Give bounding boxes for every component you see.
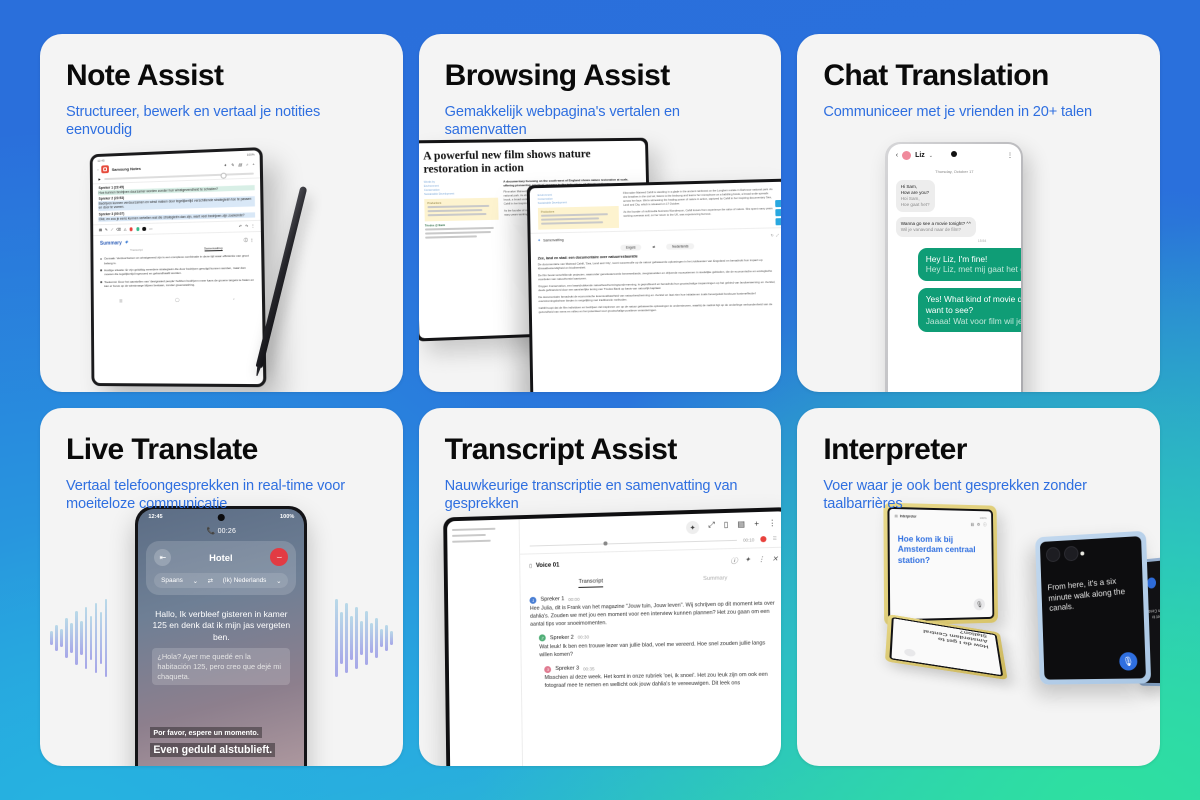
speaker-header: 3 Spreker 3 00:35 [544, 662, 780, 673]
ai-sparkle-icon: ✦ [537, 238, 540, 243]
email-icon[interactable] [775, 218, 781, 225]
file-icon: ▯ [529, 563, 532, 569]
call-duration-value: 00:26 [218, 528, 237, 535]
speaker-name: Spreker 1 [540, 596, 564, 602]
caller-name: Hotel [171, 552, 270, 563]
message-translation: Hallo, Ik verbleef gisteren in kamer 125… [152, 609, 290, 643]
card-header: Live Translate Vertaal telefoongesprekke… [40, 408, 403, 513]
audio-waveform-left [50, 590, 107, 686]
more-icon[interactable]: ⋮ [251, 224, 255, 228]
ai-sparkle-icon[interactable]: ✦ [686, 521, 699, 534]
message-translation: Wil je vanavond naar de film? [901, 227, 971, 233]
message-timestamp: 15:54 [888, 239, 1021, 243]
undo-icon[interactable]: ↶ [239, 225, 242, 229]
flip-cover-screen: From here, it's a six minute walk along … [1035, 531, 1151, 685]
incoming-message-bubble: Hi Sam, How are you? Hoi Sam, Hoe gaat h… [896, 180, 935, 212]
language-selector[interactable]: Spaans ⌄ ⇄ (Ik) Nederlands ⌄ [154, 573, 288, 588]
settings-icon[interactable]: ⚙ [977, 522, 980, 528]
status-battery: 100% [980, 516, 987, 520]
page-title: Interpreter [823, 434, 1134, 466]
note-icon: ▤ [895, 514, 898, 518]
main-panel: ✦ ⤢ ▯ ▤ + ⋮ 00:10 ☰ [519, 511, 781, 766]
call-screen: 12:45 100% 📞 00:26 ⇤ Hotel ⌣ [138, 509, 304, 766]
speaker-avatar: 3 [544, 666, 551, 673]
speaker-text: Hee Julia, dit is Frank van het magazine… [529, 601, 778, 630]
reply-message: Por favor, espere un momento. Even gedul… [150, 722, 292, 758]
file-header: ▯ Voice 01 ⓘ ✦ ⋮ ✕ [529, 555, 778, 571]
card-transcript-assist[interactable]: Transcript Assist Nauwkeurige transcript… [419, 408, 782, 766]
speaker-avatar: 1 [529, 596, 536, 603]
summary-bullet: Oorzaak: Verduurzamen en winstgevend zij… [100, 254, 254, 266]
redo-icon[interactable]: ↷ [245, 224, 248, 228]
more-icon[interactable]: ⋮ [250, 237, 254, 242]
call-controls-row: ⇤ Hotel ⌣ [154, 548, 288, 566]
translated-message: Hallo, Ik verbleef gisteren in kamer 125… [152, 609, 290, 685]
app-name: Interpreter [900, 514, 917, 518]
tablet-summary-device: Environment Conservation Sustainable Dev… [526, 179, 781, 392]
back-icon[interactable]: ‹ [97, 168, 98, 172]
info-icon[interactable]: ⓘ [244, 237, 248, 243]
summary-label: Samenvatting [543, 238, 563, 242]
info-icon[interactable]: ⓘ [730, 556, 737, 566]
page-title: Note Assist [66, 60, 377, 92]
smartphone-device: ‹ Liz ⌄ ⋮ Thursday, October 17 Hi Sam, H… [885, 142, 1023, 392]
card-subtitle: Vertaal telefoongesprekken in real-time … [66, 477, 377, 514]
back-icon[interactable]: ‹ [896, 152, 898, 159]
speaker-time: 00:30 [577, 635, 588, 640]
phone-icon: 📞 [207, 528, 216, 535]
speaker-text: Wat leuk! Ik ben een trouwe lezer van ju… [539, 640, 780, 660]
expand-icon[interactable]: ⤢ [776, 233, 779, 237]
chevron-down-icon[interactable]: ⌄ [276, 577, 281, 585]
speaker-avatar: 2 [539, 635, 546, 642]
note-icon[interactable]: ▤ [971, 522, 975, 528]
card-header: Interpreter Voer waar je ook bent gespre… [797, 408, 1160, 513]
date-divider: Thursday, October 17 [888, 169, 1021, 174]
home-icon[interactable]: ◯ [175, 297, 179, 302]
bullet-dot-icon [100, 258, 102, 260]
chevron-down-icon[interactable]: ⌄ [193, 577, 198, 585]
more-icon[interactable]: ⋮ [768, 519, 776, 532]
interpreter-screen-bottom: How do I get to Amsterdam Central Statio… [890, 617, 1004, 677]
mic-icon[interactable] [904, 648, 915, 657]
card-live-translate[interactable]: Live Translate Vertaal telefoongesprekke… [40, 408, 403, 766]
speaker-time: 00:35 [583, 666, 594, 671]
sidebar-link[interactable]: Sustainable Development [537, 200, 617, 205]
swap-icon[interactable]: ⇄ [208, 577, 213, 585]
page-title: Chat Translation [823, 60, 1134, 92]
language-from[interactable]: Engels [620, 244, 642, 251]
notes-screen: 12:45 100% ‹ Samsung Notes ✦ ✎ ▤ ⌕ + [93, 150, 264, 384]
card-header: Note Assist Structureer, bewerk en verta… [40, 34, 403, 139]
transcript-row: 2 Spreker 2 00:30 Wat leuk! Ik ben een t… [530, 630, 780, 660]
speaker-text: Misschien al deze week. Het komt in onze… [544, 672, 780, 691]
record-icon[interactable] [760, 536, 766, 542]
note-icon[interactable]: ▤ [99, 228, 102, 232]
more-icon[interactable]: ⋮ [1007, 152, 1013, 159]
card-browsing-assist[interactable]: Browsing Assist Gemakkelijk webpagina's … [419, 34, 782, 392]
more-icon[interactable]: ⋮ [757, 555, 764, 565]
ai-summary-panel: ✦ Samenvatting ↻ ⤢ Engels ⇄ Nederlands Z… [530, 227, 781, 320]
pull-quote-box: Productions [424, 197, 499, 221]
highlighter-icon[interactable]: ⟋ [111, 228, 113, 232]
android-navigation-bar[interactable]: ||| ◯ ‹ [94, 293, 262, 306]
card-subtitle: Voer waar je ook bent gesprekken zonder … [823, 477, 1134, 514]
reply-translation: Even geduld alstublieft. [150, 743, 275, 757]
message-translation: Hey Liz, met mij gaat het goed! [926, 264, 1021, 275]
page-title: Live Translate [66, 434, 377, 466]
summary-bullet-text: Toekomst: Door het aanstellen van 'desig… [104, 277, 254, 288]
language-to[interactable]: (Ik) Nederlands [223, 577, 267, 585]
answer-text: From here, it's a six minute walk along … [1047, 575, 1137, 615]
elapsed-time: 00:10 [743, 537, 754, 542]
camera-lens-icon [1064, 546, 1079, 562]
tab-summary[interactable]: Summary [703, 575, 727, 584]
color-green-swatch[interactable] [136, 227, 140, 231]
plus-icon[interactable]: + [252, 161, 254, 166]
sparkle-icon[interactable]: ✦ [223, 162, 226, 167]
search-icon[interactable]: ⌕ [246, 161, 248, 166]
card-header: Transcript Assist Nauwkeurige transcript… [419, 408, 782, 513]
samsung-notes-logo-icon [101, 165, 109, 173]
mic-icon[interactable]: 🎙 [1119, 652, 1138, 671]
back-nav-icon[interactable]: ‹ [233, 297, 234, 302]
card-interpreter[interactable]: Interpreter Voer waar je ook bent gespre… [797, 408, 1160, 766]
foldable-tablet-device: 12:45 100% ‹ Samsung Notes ✦ ✎ ▤ ⌕ + [90, 147, 267, 387]
note-icon[interactable]: ▤ [238, 161, 242, 166]
front-camera-icon [218, 514, 225, 521]
end-call-button[interactable]: ⌣ [270, 548, 288, 566]
reply-original: Por favor, espere un momento. [150, 727, 261, 738]
bullet-dot-icon [100, 270, 102, 272]
book-icon[interactable]: ▯ [723, 520, 728, 533]
messages-screen: ‹ Liz ⌄ ⋮ Thursday, October 17 Hi Sam, H… [888, 144, 1021, 392]
sidebar-link[interactable]: Sustainable Development [424, 191, 498, 195]
article-columns: Environment Conservation Sustainable Dev… [529, 182, 781, 233]
contact-name: Liz [915, 152, 925, 159]
tab-samenvatting[interactable]: Samenvatting [204, 246, 222, 251]
transcript-panel: ▯ Voice 01 ⓘ ✦ ⋮ ✕ Transcript [520, 547, 781, 704]
summary-bullet: Toekomst: Door het aanstellen van 'desig… [100, 277, 254, 288]
speaker-name: Spreker 3 [555, 666, 579, 672]
app-title: Samsung Notes [112, 165, 141, 171]
page-title: Browsing Assist [445, 60, 756, 92]
summary-screen: Environment Conservation Sustainable Dev… [529, 182, 781, 392]
speaker-name: Spreker 2 [550, 635, 574, 641]
sidebar-panel [447, 519, 523, 766]
cover-display: From here, it's a six minute walk along … [1040, 536, 1146, 680]
message-original: Hey Liz, I'm fine! [926, 254, 1021, 265]
shape-icon[interactable]: △ [124, 228, 127, 232]
message-original: Yes! What kind of movie do you want to s… [926, 294, 1021, 316]
notes-toolbar-icons[interactable]: ✦ ✎ ▤ ⌕ + [223, 161, 254, 167]
call-controls-panel[interactable]: ⇤ Hotel ⌣ Spaans ⌄ ⇄ (Ik) Nederlands ⌄ [146, 541, 296, 595]
message-original: Wanna go see a movie tonight? ^^ [901, 221, 971, 227]
flip-lower-screen: How do I get to Amsterdam Central Statio… [885, 614, 1008, 680]
pull-quote-box: Productions [538, 206, 619, 230]
pencil-icon[interactable]: ✎ [231, 162, 234, 167]
close-icon[interactable]: ✕ [772, 555, 778, 565]
twitter-icon[interactable] [775, 200, 782, 207]
outgoing-message-bubble: Hey Liz, I'm fine! Hey Liz, met mij gaat… [918, 248, 1021, 282]
transcript-row: 1 Spreker 1 00:00 Hee Julia, dit is Fran… [529, 591, 779, 629]
summary-bullet-text: Cahill hoopt dat de film individuen en b… [538, 302, 780, 314]
plus-icon[interactable]: + [754, 519, 759, 532]
card-subtitle: Gemakkelijk webpagina's vertalen en same… [445, 103, 756, 140]
interpreter-screen-top: ▤ Interpreter 100% ▤ ⚙ ⓘ Hoe kom ik bij … [888, 507, 995, 622]
card-header: Browsing Assist Gemakkelijk webpagina's … [419, 34, 782, 139]
voice-recorder-screen: ✦ ⤢ ▯ ▤ + ⋮ 00:10 ☰ [447, 511, 782, 766]
card-chat-translation[interactable]: Chat Translation Communiceer met je vrie… [797, 34, 1160, 392]
front-camera-icon [951, 151, 957, 157]
article-paragraph: As the founder of multimedia business Wo… [623, 207, 777, 219]
color-black-swatch[interactable] [143, 227, 147, 231]
article-paragraph: Filmmaker Maireed Cahill is standing in … [623, 188, 777, 208]
tablet-device: ✦ ⤢ ▯ ▤ + ⋮ 00:10 ☰ [443, 507, 782, 766]
summary-bullet: Huidige situatie: Er zijn gelukkig meerd… [100, 265, 254, 276]
card-subtitle: Communiceer met je vrienden in 20+ talen [823, 103, 1134, 121]
status-time: 12:45 [97, 159, 104, 163]
outgoing-message-bubble: Yes! What kind of movie do you want to s… [918, 288, 1021, 332]
swap-icon[interactable]: ⇄ [646, 243, 661, 250]
ai-sparkle-icon: ✦ [124, 239, 129, 246]
exit-icon[interactable]: ⇤ [154, 549, 171, 566]
summary-label: Summary [100, 240, 122, 246]
color-red-swatch[interactable] [129, 228, 133, 232]
message-translation: Hoi Sam, Hoe gaat het? [901, 196, 930, 208]
expand-icon[interactable]: ⤢ [708, 520, 715, 533]
speaker-time: 00:00 [568, 596, 579, 601]
page-title: Transcript Assist [445, 434, 756, 466]
chevron-down-icon[interactable]: ⌄ [929, 153, 933, 159]
card-header: Chat Translation Communiceer met je vrie… [797, 34, 1160, 121]
list-icon[interactable]: ☰ [772, 536, 776, 542]
panel-actions[interactable]: ⓘ ✦ ⋮ ✕ [730, 555, 778, 566]
camera-lens-icon [1046, 547, 1061, 563]
message-translation: Jaaaa! Wat voor film wil je zien? [926, 316, 1021, 327]
thickness-icon[interactable]: — [149, 227, 152, 231]
status-battery: 100% [247, 152, 255, 156]
linkedin-icon[interactable] [775, 209, 781, 216]
article-sidebar: Environment Conservation Sustainable Dev… [537, 192, 618, 233]
status-battery: 100% [280, 514, 294, 520]
tab-transcript[interactable]: Transcript [578, 578, 603, 587]
mic-icon[interactable] [1147, 577, 1156, 589]
language-selector[interactable]: Engels ⇄ Nederlands [537, 241, 778, 253]
card-subtitle: Structureer, bewerk en vertaal je notiti… [66, 103, 377, 140]
transcript-tabs[interactable]: Transcript Summary [529, 574, 778, 588]
message-original: Hi Sam, How are you? [901, 184, 930, 196]
article-sidebar: Words by Environment Conservation Sustai… [423, 179, 499, 240]
summary-tabs[interactable]: Transcript Samenvatting [100, 246, 254, 254]
summary-panel: Summary ✦ ⓘ ⋮ Transcript Samenvatting Oo… [93, 232, 262, 295]
message-original: ¿Hola? Ayer me quedé en la habitación 12… [152, 648, 290, 685]
language-from[interactable]: Spaans [161, 577, 183, 585]
language-to[interactable]: Nederlands [666, 243, 694, 250]
smartphone-device: 12:45 100% 📞 00:26 ⇤ Hotel ⌣ [135, 506, 307, 766]
flip-phone-blue: How do I get to Amsterdam Central Statio… [1035, 534, 1160, 694]
incoming-message-bubble: Wanna go see a movie tonight? ^^ Wil je … [896, 217, 976, 237]
card-note-assist[interactable]: Note Assist Structureer, bewerk en verta… [40, 34, 403, 392]
summary-bullet-text: Oorzaak: Verduurzamen en winstgevend zij… [104, 254, 254, 266]
question-translated: Hoe kom ik bij Amsterdam centraal statio… [890, 526, 992, 565]
info-icon[interactable]: ⓘ [983, 522, 987, 528]
avatar [902, 151, 911, 160]
summary-bullet-text: Huidige situatie: Er zijn gelukkig meerd… [104, 265, 254, 276]
article-headline: A powerful new film shows nature restora… [419, 141, 646, 181]
ai-sparkle-icon[interactable]: ✦ [744, 556, 750, 566]
file-name: Voice 01 [536, 563, 560, 570]
refresh-icon[interactable]: ↻ [770, 233, 773, 237]
tab-transcript[interactable]: Transcript [130, 248, 143, 253]
flip-phone-yellow: ▤ Interpreter 100% ▤ ⚙ ⓘ Hoe kom ik bij … [883, 504, 1011, 690]
flip-upper-screen: ▤ Interpreter 100% ▤ ⚙ ⓘ Hoe kom ik bij … [884, 503, 999, 626]
eraser-icon[interactable]: ⌫ [116, 228, 121, 232]
note-icon[interactable]: ▤ [737, 519, 745, 532]
social-share-buttons[interactable] [775, 200, 782, 225]
flash-icon [1081, 551, 1085, 555]
bullet-dot-icon [100, 281, 102, 283]
transcript-row: 3 Spreker 3 00:35 Misschien al deze week… [530, 662, 780, 691]
status-time: 12:45 [148, 514, 162, 520]
feature-card-grid: Note Assist Structureer, bewerk en verta… [0, 0, 1200, 800]
article-body: Filmmaker Maireed Cahill is standing in … [623, 188, 778, 231]
recents-icon[interactable]: ||| [119, 298, 122, 303]
card-subtitle: Nauwkeurige transcriptie en samenvatting… [445, 477, 756, 514]
camera-module [1046, 546, 1079, 563]
audio-waveform-right [335, 590, 392, 686]
call-duration: 📞 00:26 [138, 527, 304, 535]
play-icon[interactable]: ▶ [98, 177, 100, 181]
pen-icon[interactable]: ✎ [105, 228, 108, 232]
mic-icon[interactable]: 🎙 [974, 598, 985, 610]
